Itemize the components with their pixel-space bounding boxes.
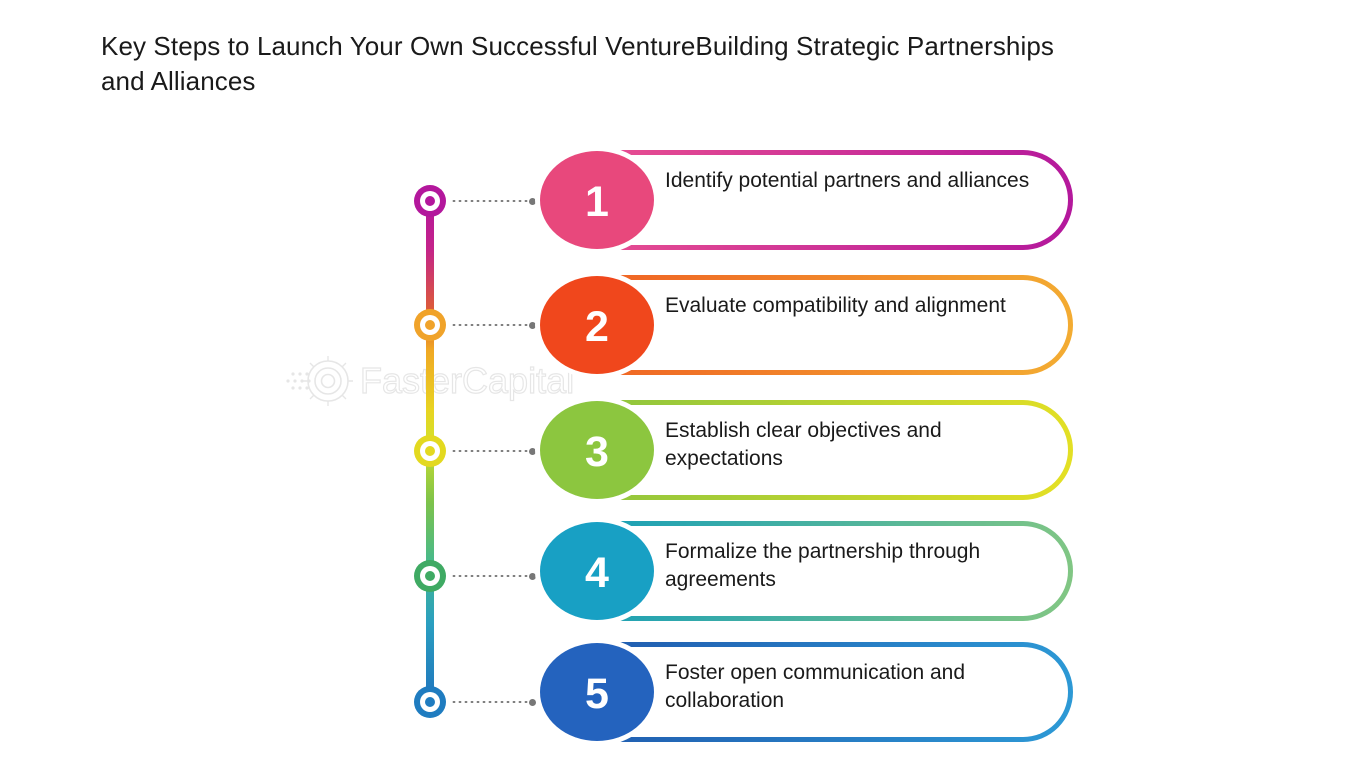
connector-endpoint-2	[529, 322, 536, 329]
connector-line-2	[451, 324, 529, 326]
connector-line-3	[451, 450, 529, 452]
marker-core	[425, 320, 435, 330]
step-number-badge-3: 3	[540, 401, 654, 499]
marker-core	[425, 446, 435, 456]
step-number-2: 2	[585, 306, 609, 349]
connector-endpoint-1	[529, 198, 536, 205]
infographic-canvas: Key Steps to Launch Your Own Successful …	[0, 0, 1350, 769]
step-number-1: 1	[585, 181, 609, 224]
step-label-5: Foster open communication and collaborat…	[665, 659, 1050, 715]
step-label-1: Identify potential partners and alliance…	[665, 167, 1050, 195]
svg-text:FasterCapital: FasterCapital	[360, 360, 574, 401]
step-number-badge-2: 2	[540, 276, 654, 374]
step-number-badge-5: 5	[540, 643, 654, 741]
timeline-marker-2[interactable]	[414, 309, 446, 341]
step-pill-3[interactable]: 3Establish clear objectives and expectat…	[543, 400, 1073, 500]
step-pill-body: 4Formalize the partnership through agree…	[548, 526, 1068, 616]
step-label-3: Establish clear objectives and expectati…	[665, 417, 1050, 473]
timeline-marker-5[interactable]	[414, 686, 446, 718]
connector-endpoint-4	[529, 573, 536, 580]
timeline-marker-4[interactable]	[414, 560, 446, 592]
step-number-badge-1: 1	[540, 151, 654, 249]
connector-line-4	[451, 575, 529, 577]
step-pill-5[interactable]: 5Foster open communication and collabora…	[543, 642, 1073, 742]
marker-core	[425, 697, 435, 707]
timeline-marker-1[interactable]	[414, 185, 446, 217]
step-pill-body: 5Foster open communication and collabora…	[548, 647, 1068, 737]
connector-endpoint-5	[529, 699, 536, 706]
step-label-2: Evaluate compatibility and alignment	[665, 292, 1050, 320]
page-title: Key Steps to Launch Your Own Successful …	[101, 29, 1101, 99]
step-pill-body: 3Establish clear objectives and expectat…	[548, 405, 1068, 495]
connector-line-1	[451, 200, 529, 202]
step-number-5: 5	[585, 673, 609, 716]
step-pill-1[interactable]: 1Identify potential partners and allianc…	[543, 150, 1073, 250]
connector-line-5	[451, 701, 529, 703]
step-pill-body: 2Evaluate compatibility and alignment	[548, 280, 1068, 370]
step-number-badge-4: 4	[540, 522, 654, 620]
step-pill-4[interactable]: 4Formalize the partnership through agree…	[543, 521, 1073, 621]
step-label-4: Formalize the partnership through agreem…	[665, 538, 1050, 594]
step-number-3: 3	[585, 431, 609, 474]
step-number-4: 4	[585, 552, 609, 595]
marker-core	[425, 196, 435, 206]
timeline-marker-3[interactable]	[414, 435, 446, 467]
step-pill-2[interactable]: 2Evaluate compatibility and alignment	[543, 275, 1073, 375]
marker-core	[425, 571, 435, 581]
connector-endpoint-3	[529, 448, 536, 455]
step-pill-body: 1Identify potential partners and allianc…	[548, 155, 1068, 245]
